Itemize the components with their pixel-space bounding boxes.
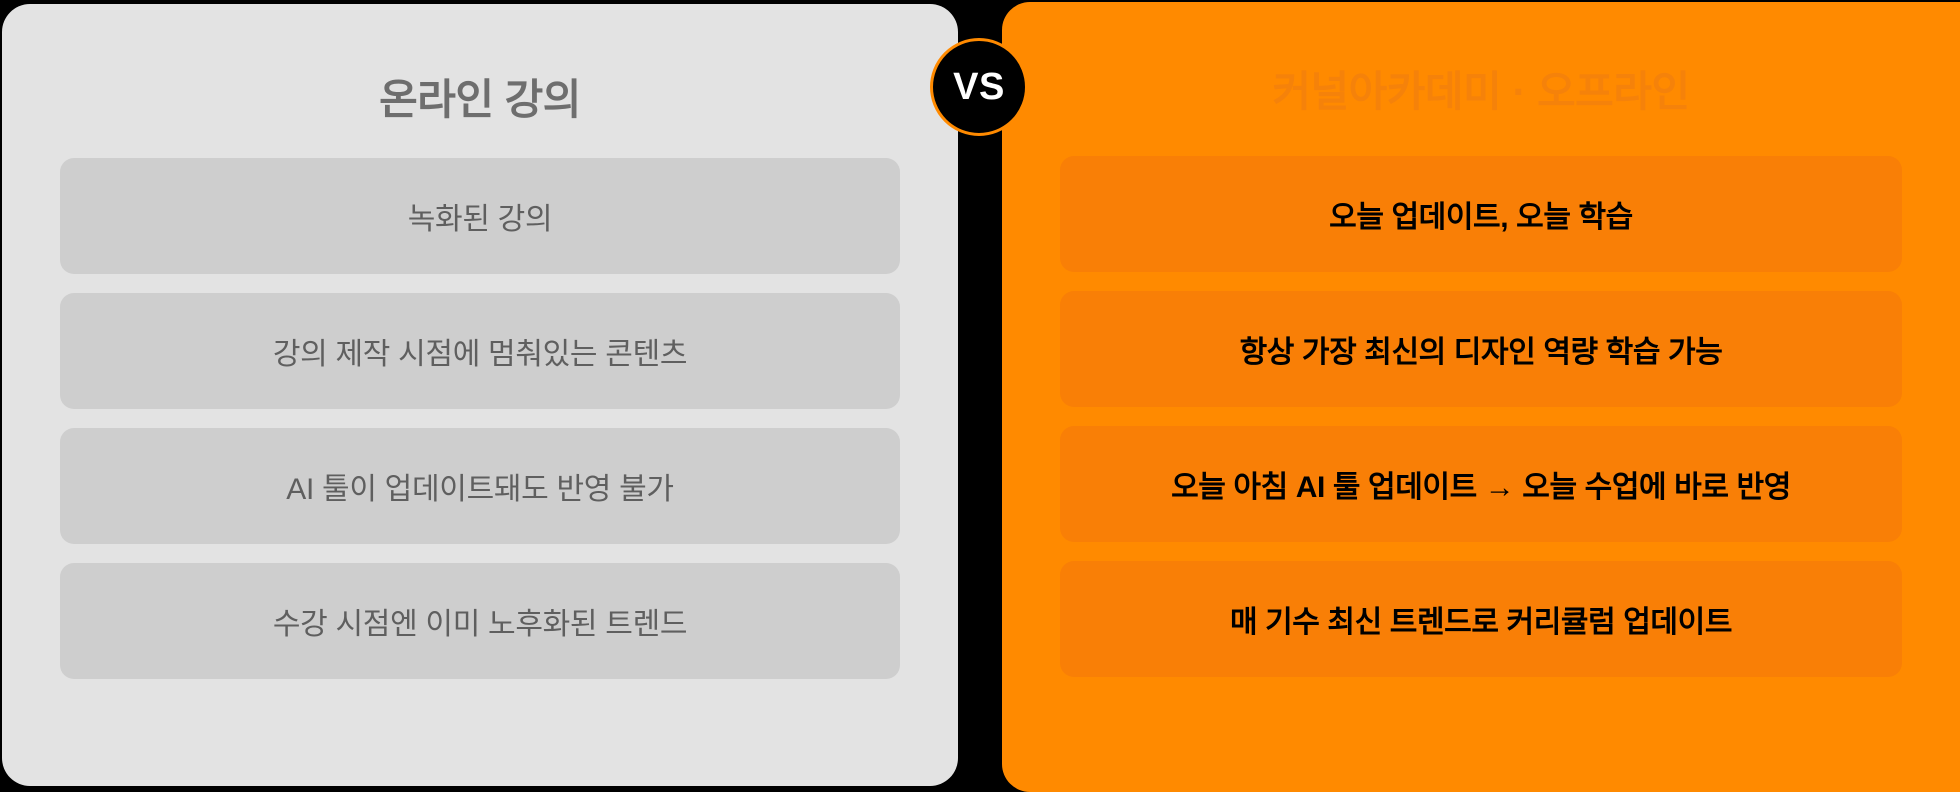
- comparison-infographic: 온라인 강의 녹화된 강의 강의 제작 시점에 멈춰있는 콘텐츠 AI 툴이 업…: [0, 0, 1960, 792]
- list-item: 수강 시점엔 이미 노후화된 트렌드: [60, 563, 900, 679]
- online-lecture-panel: 온라인 강의 녹화된 강의 강의 제작 시점에 멈춰있는 콘텐츠 AI 툴이 업…: [2, 4, 958, 786]
- left-row-list: 녹화된 강의 강의 제작 시점에 멈춰있는 콘텐츠 AI 툴이 업데이트돼도 반…: [2, 158, 958, 679]
- list-item: 오늘 아침 AI 툴 업데이트 → 오늘 수업에 바로 반영: [1060, 426, 1902, 542]
- list-item: 강의 제작 시점에 멈춰있는 콘텐츠: [60, 293, 900, 409]
- kernel-academy-offline-panel: 커널아카데미 · 오프라인 오늘 업데이트, 오늘 학습 항상 가장 최신의 디…: [1002, 2, 1960, 792]
- vs-badge-label: VS: [953, 68, 1005, 106]
- left-panel-title: 온라인 강의: [2, 66, 958, 127]
- list-item: AI 툴이 업데이트돼도 반영 불가: [60, 428, 900, 544]
- list-item: 항상 가장 최신의 디자인 역량 학습 가능: [1060, 291, 1902, 407]
- right-panel-title: 커널아카데미 · 오프라인: [1002, 58, 1960, 119]
- vs-badge: VS: [930, 38, 1028, 136]
- right-row-list: 오늘 업데이트, 오늘 학습 항상 가장 최신의 디자인 역량 학습 가능 오늘…: [1002, 156, 1960, 677]
- list-item: 오늘 업데이트, 오늘 학습: [1060, 156, 1902, 272]
- list-item: 매 기수 최신 트렌드로 커리큘럼 업데이트: [1060, 561, 1902, 677]
- list-item: 녹화된 강의: [60, 158, 900, 274]
